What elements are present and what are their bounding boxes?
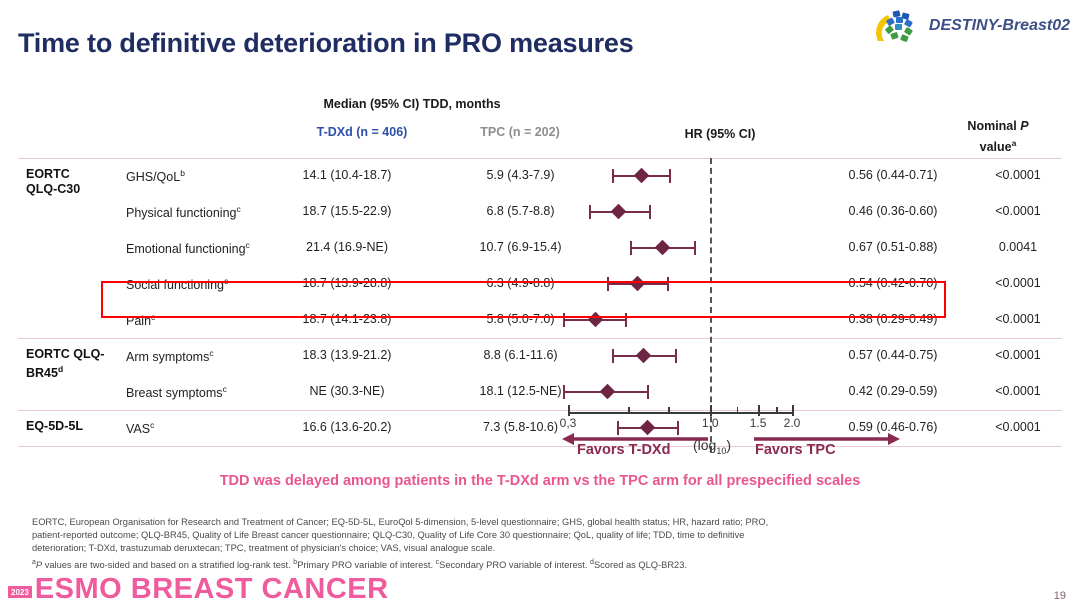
takeaway-message: TDD was delayed among patients in the T-… (0, 473, 1080, 489)
axis-tick-label: 0,3 (560, 416, 577, 430)
page-title: Time to definitive deterioration in PRO … (18, 28, 634, 59)
cell-scale: Breast symptomsc (126, 384, 227, 400)
cell-median-tpc: 10.7 (6.9-15.4) (443, 240, 598, 254)
axis-tick-label: 1.5 (750, 416, 767, 430)
cell-scale: Arm symptomsc (126, 348, 214, 364)
axis-tick-label: 1.0 (702, 416, 719, 430)
nominal-p-line2: value (980, 140, 1012, 154)
axis-minor-tick (628, 407, 630, 414)
cell-median-tdxd: 21.4 (16.9-NE) (262, 240, 432, 254)
cell-p-value: <0.0001 (958, 348, 1078, 362)
axis-major-tick (568, 405, 570, 416)
results-table: EORTCQLQ-C30GHS/QoLb14.1 (10.4-18.7)5.9 … (18, 158, 1062, 446)
hr-axis: Favors T-DXd Favors TPC (log10) 0,31.01.… (0, 404, 1080, 474)
cell-median-tpc: 5.9 (4.3-7.9) (443, 168, 598, 182)
cell-median-tdxd: 18.7 (15.5-22.9) (262, 204, 432, 218)
table-row: GHS/QoLb14.1 (10.4-18.7)5.9 (4.3-7.9)0.5… (18, 158, 1062, 194)
cell-hazard-ratio: 0.38 (0.29-0.49) (808, 312, 978, 326)
cell-p-value: <0.0001 (958, 276, 1078, 290)
footnote-a-text: values are two-sided and based on a stra… (42, 560, 293, 570)
cell-hazard-ratio: 0.54 (0.42-0.70) (808, 276, 978, 290)
favors-tpc-label: Favors TPC (755, 442, 836, 458)
cell-median-tpc: 6.8 (5.7-8.8) (443, 204, 598, 218)
cell-p-value: <0.0001 (958, 312, 1078, 326)
cell-median-tpc: 8.8 (6.1-11.6) (443, 348, 598, 362)
table-row: Emotional functioningc21.4 (16.9-NE)10.7… (18, 230, 1062, 266)
cell-p-value: <0.0001 (958, 168, 1078, 182)
table-row: Physical functioningc18.7 (15.5-22.9)6.8… (18, 194, 1062, 230)
column-header-hr: HR (95% CI) (640, 127, 800, 141)
table-row: Arm symptomsc18.3 (13.9-21.2)8.8 (6.1-11… (18, 338, 1062, 374)
cell-scale: Physical functioningc (126, 204, 241, 220)
cell-p-value: 0.0041 (958, 240, 1078, 254)
axis-tick-label: 2.0 (784, 416, 801, 430)
cell-hazard-ratio: 0.57 (0.44-0.75) (808, 348, 978, 362)
footnote-line-2: patient-reported outcome; QLQ-BR45, Qual… (32, 529, 1048, 542)
column-header-nominal-p: Nominal P valuea (928, 118, 1068, 156)
footnote-line-3: deterioration; T-DXd, trastuzumab deruxt… (32, 542, 1048, 555)
axis-major-tick (710, 405, 712, 416)
cell-median-tdxd: NE (30.3-NE) (262, 384, 432, 398)
cell-median-tdxd: 18.3 (13.9-21.2) (262, 348, 432, 362)
cell-hazard-ratio: 0.56 (0.44-0.71) (808, 168, 978, 182)
axis-minor-tick (668, 407, 670, 414)
study-logo: DESTINY-Breast02 (875, 8, 1070, 44)
column-header-tpc: TPC (n = 202) (430, 125, 610, 139)
footnotes: EORTC, European Organisation for Researc… (32, 516, 1048, 572)
footnote-d-text: Scored as QLQ-BR23. (594, 560, 687, 570)
footnote-c-text: Secondary PRO variable of interest. (439, 560, 590, 570)
axis-major-tick (792, 405, 794, 416)
study-logo-label: DESTINY-Breast02 (929, 17, 1070, 35)
cell-scale: Emotional functioningc (126, 240, 250, 256)
cell-hazard-ratio: 0.46 (0.36-0.60) (808, 204, 978, 218)
footnote-line-4: aP values are two-sided and based on a s… (32, 556, 1048, 572)
cell-hazard-ratio: 0.42 (0.29-0.59) (808, 384, 978, 398)
table-row: Painc18.7 (14.1-23.8)5.8 (5.0-7.0)0.38 (… (18, 302, 1062, 338)
cell-median-tdxd: 18.7 (14.1-23.8) (262, 312, 432, 326)
footnote-line-1: EORTC, European Organisation for Researc… (32, 516, 1048, 529)
log-scale-note: (log10) (693, 437, 731, 456)
cell-median-tpc: 18.1 (12.5-NE) (443, 384, 598, 398)
slide-number: 19 (1054, 590, 1066, 602)
cell-scale: GHS/QoLb (126, 168, 185, 184)
axis-minor-tick (737, 407, 739, 414)
cell-scale: Social functioningc (126, 276, 228, 292)
cell-p-value: <0.0001 (958, 384, 1078, 398)
footnote-b-text: Primary PRO variable of interest. (297, 560, 435, 570)
esmo-year-badge: 2023 (8, 586, 32, 598)
cell-p-value: <0.0001 (958, 204, 1078, 218)
axis-minor-tick (776, 407, 778, 414)
cell-median-tpc: 6.3 (4.9-8.8) (443, 276, 598, 290)
table-row: Social functioningc18.7 (13.9-28.8)6.3 (… (18, 266, 1062, 302)
axis-major-tick (758, 405, 760, 416)
cell-median-tdxd: 14.1 (10.4-18.7) (262, 168, 432, 182)
nominal-p-superscript: a (1012, 138, 1017, 148)
favors-tdxd-label: Favors T-DXd (577, 442, 670, 458)
destiny-breast02-logo-icon (875, 8, 921, 44)
cell-median-tdxd: 18.7 (13.9-28.8) (262, 276, 432, 290)
cell-hazard-ratio: 0.67 (0.51-0.88) (808, 240, 978, 254)
cell-median-tpc: 5.8 (5.0-7.0) (443, 312, 598, 326)
column-header-median: Median (95% CI) TDD, months (262, 97, 562, 111)
log-base: 10 (716, 446, 726, 456)
p-italic: P (1020, 119, 1028, 133)
nominal-p-line1: Nominal P (967, 119, 1028, 133)
cell-scale: Painc (126, 312, 155, 328)
